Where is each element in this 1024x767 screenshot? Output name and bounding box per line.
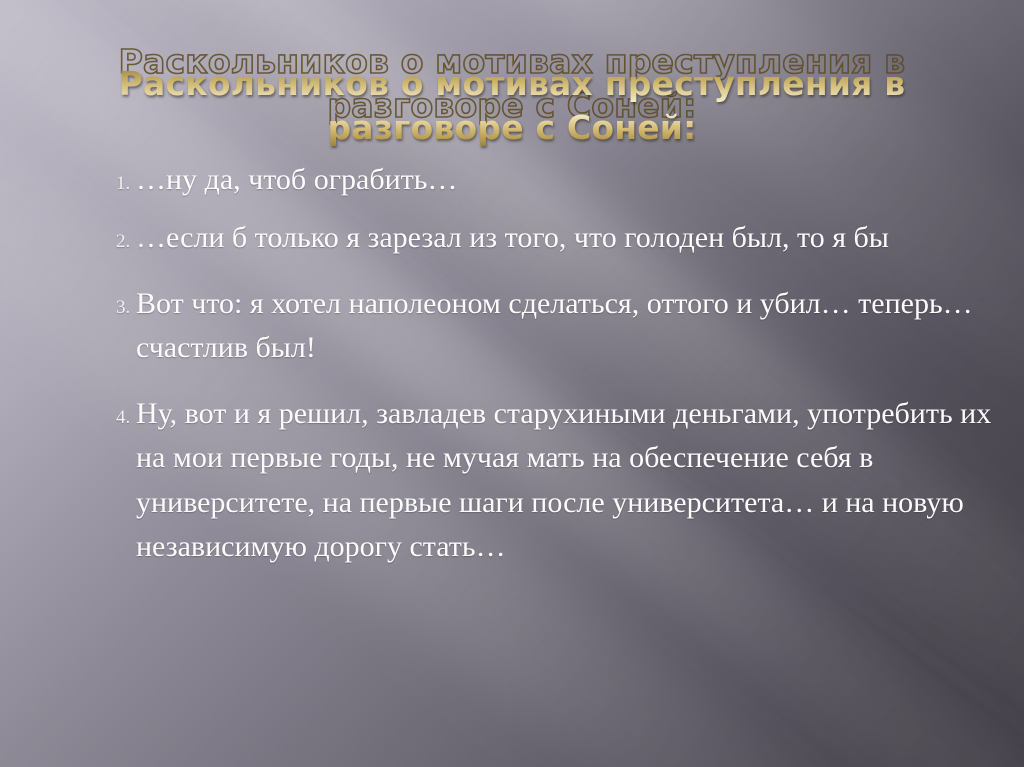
list-item-text: Вот что: я хотел наполеоном сделаться, о… <box>135 282 1024 370</box>
list-item-text: Ну, вот и я решил, завладев старухиными … <box>135 392 1024 568</box>
slide-title: Раскольников о мотивах преступления в ра… <box>62 62 962 150</box>
presentation-slide: Раскольников о мотивах преступления в ра… <box>0 0 1024 767</box>
list-item: Вот что: я хотел наполеоном сделаться, о… <box>135 282 1024 370</box>
list-item: …ну да, чтоб ограбить… <box>135 158 1024 202</box>
list-item: …если б только я зарезал из того, что го… <box>135 216 1024 260</box>
numbered-bullet-list: …ну да, чтоб ограбить… …если б только я … <box>78 158 1024 583</box>
list-item-text: …если б только я зарезал из того, что го… <box>135 216 1024 260</box>
slide-content: Раскольников о мотивах преступления в ра… <box>0 0 1024 767</box>
list-item-text: …ну да, чтоб ограбить… <box>135 158 1024 202</box>
list-item: Ну, вот и я решил, завладев старухиными … <box>135 392 1024 568</box>
